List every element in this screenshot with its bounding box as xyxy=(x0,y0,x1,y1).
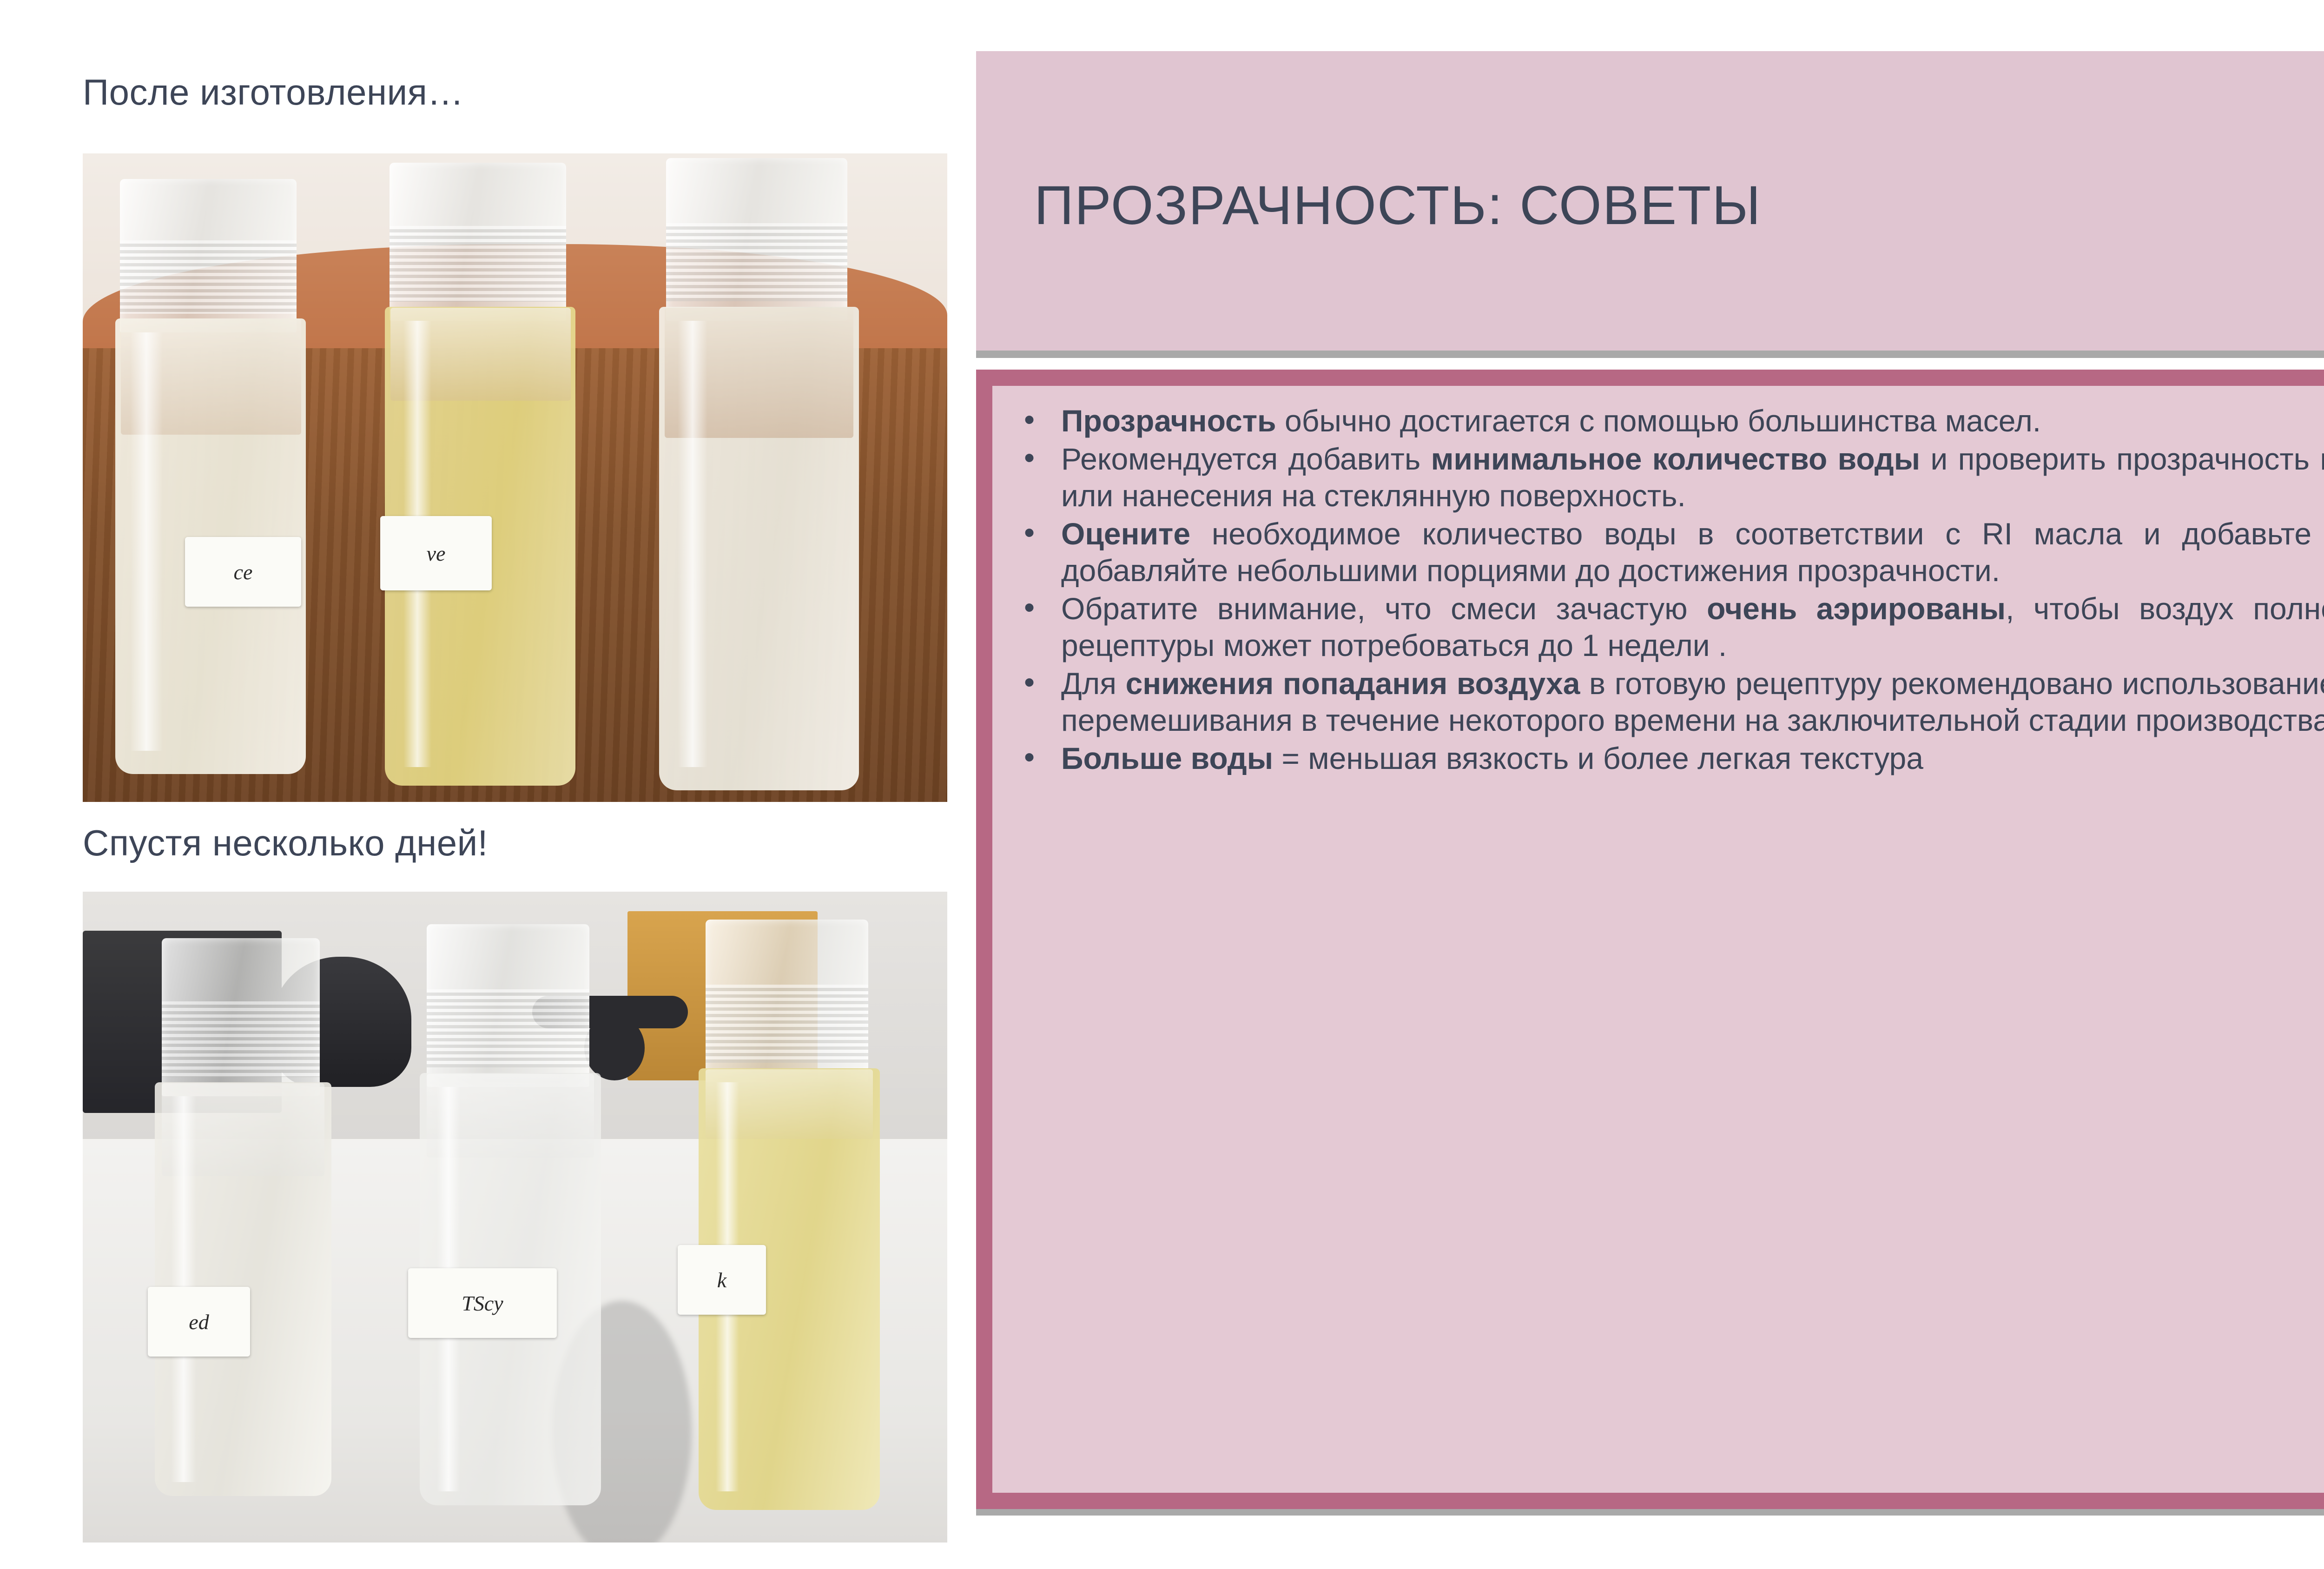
photo2-bottle-3-cap xyxy=(706,920,868,1082)
bullet-emphasis: снижения попадания воздуха xyxy=(1126,666,1580,701)
slide-title-box: ПРОЗРАЧНОСТЬ: СОВЕТЫ xyxy=(976,51,2324,358)
photo2-bottle-3-label: k xyxy=(678,1245,766,1315)
photo1-bottle-2: ve xyxy=(380,163,585,786)
tips-bullet-list: Прозрачность обычно достигается с помощь… xyxy=(1011,403,2324,777)
bullet-text: Рекомендуется добавить xyxy=(1061,442,1431,476)
bullet-text: Для xyxy=(1061,666,1126,701)
bullet-more-water: Больше воды = меньшая вязкость и более л… xyxy=(1011,740,2324,777)
photo2-bottle-2-cap xyxy=(427,924,589,1087)
slide-body-box: Прозрачность обычно достигается с помощь… xyxy=(976,370,2324,1516)
photo1-bottle-1: ce xyxy=(111,179,315,774)
photo2-bottle-2-label: TScy xyxy=(408,1268,557,1338)
slide-body-inner: Прозрачность обычно достигается с помощь… xyxy=(992,386,2324,1493)
photo2-bottle-2: TScy xyxy=(417,924,608,1505)
caption-several-days-later: Спустя несколько дней! xyxy=(83,822,488,864)
bullet-estimate-ri: Оцените необходимое количество воды в со… xyxy=(1011,516,2324,589)
bullet-emphasis: Больше воды xyxy=(1061,741,1273,775)
photo1-bottle-3-cap xyxy=(666,158,847,321)
caption-after-manufacture: После изготовления… xyxy=(83,71,464,113)
right-content-column: ПРОЗРАЧНОСТЬ: СОВЕТЫ Прозрачность обычно… xyxy=(964,0,2324,1569)
photo1-bottle-1-highlight xyxy=(130,332,163,751)
bullet-text: обычно достигается с помощью большинства… xyxy=(1276,404,2041,438)
bullet-emphasis: Прозрачность xyxy=(1061,404,1276,438)
photo1-bottle-3 xyxy=(654,158,868,790)
photo-bottles-after-manufacture: ce ve xyxy=(83,153,947,802)
bullet-text: Обратите внимание, что смеси зачастую xyxy=(1061,591,1707,626)
photo1-bottle-1-cap xyxy=(120,179,297,332)
photo2-bottle-1: ed xyxy=(152,938,338,1496)
photo-bottles-several-days-later: ed TScy k xyxy=(83,892,947,1543)
photo1-bottle-1-label: ce xyxy=(185,537,301,607)
left-photo-column: После изготовления… ce ve Сп xyxy=(0,0,948,1569)
bullet-text: = меньшая вязкость и более легкая тексту… xyxy=(1273,741,1923,775)
bullet-minimal-water: Рекомендуется добавить минимальное колич… xyxy=(1011,441,2324,514)
slide-title: ПРОЗРАЧНОСТЬ: СОВЕТЫ xyxy=(1034,174,1762,237)
photo2-bottle-1-cap xyxy=(162,938,320,1096)
bullet-emphasis: Оцените xyxy=(1061,516,1190,551)
bullet-transparency-oils: Прозрачность обычно достигается с помощь… xyxy=(1011,403,2324,439)
bullet-reduce-air: Для снижения попадания воздуха в готовую… xyxy=(1011,665,2324,739)
bullet-emphasis: очень аэрированы xyxy=(1707,591,2006,626)
photo2-bottle-3: k xyxy=(696,920,887,1510)
photo2-bottle-1-label: ed xyxy=(148,1287,250,1357)
bullet-emphasis: минимальное количество воды xyxy=(1431,442,1920,476)
photo1-bottle-3-highlight xyxy=(678,321,707,767)
photo1-bottle-2-cap xyxy=(390,163,566,321)
bullet-text: необходимое количество воды в соответств… xyxy=(1061,516,2324,588)
photo1-bottle-2-label: ve xyxy=(380,516,492,590)
bullet-aerated-mixtures: Обратите внимание, что смеси зачастую оч… xyxy=(1011,590,2324,664)
